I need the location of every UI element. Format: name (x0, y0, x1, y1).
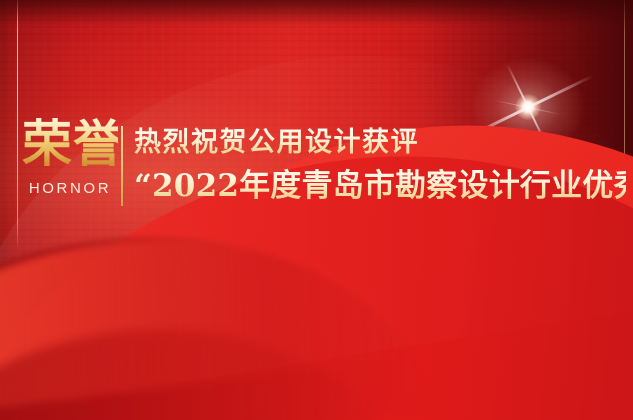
honor-label-block: 荣誉 HORNOR (22, 118, 118, 197)
headline-block: 热烈祝贺公用设计获评 “2022年度青岛市勘察设计行业优秀企业”等荣誉 (134, 126, 626, 206)
headline-line-1: 热烈祝贺公用设计获评 (134, 126, 626, 160)
honor-chinese-title: 荣誉 (22, 118, 118, 170)
honor-english-subtitle: HORNOR (22, 180, 118, 197)
headline-line-2: “2022年度青岛市勘察设计行业优秀企业”等荣誉 (134, 166, 626, 206)
vertical-gold-divider-icon (121, 126, 123, 206)
honor-banner: 荣誉 HORNOR 热烈祝贺公用设计获评 “2022年度青岛市勘察设计行业优秀企… (0, 0, 633, 420)
banner-content: 荣誉 HORNOR 热烈祝贺公用设计获评 “2022年度青岛市勘察设计行业优秀企… (0, 0, 633, 420)
